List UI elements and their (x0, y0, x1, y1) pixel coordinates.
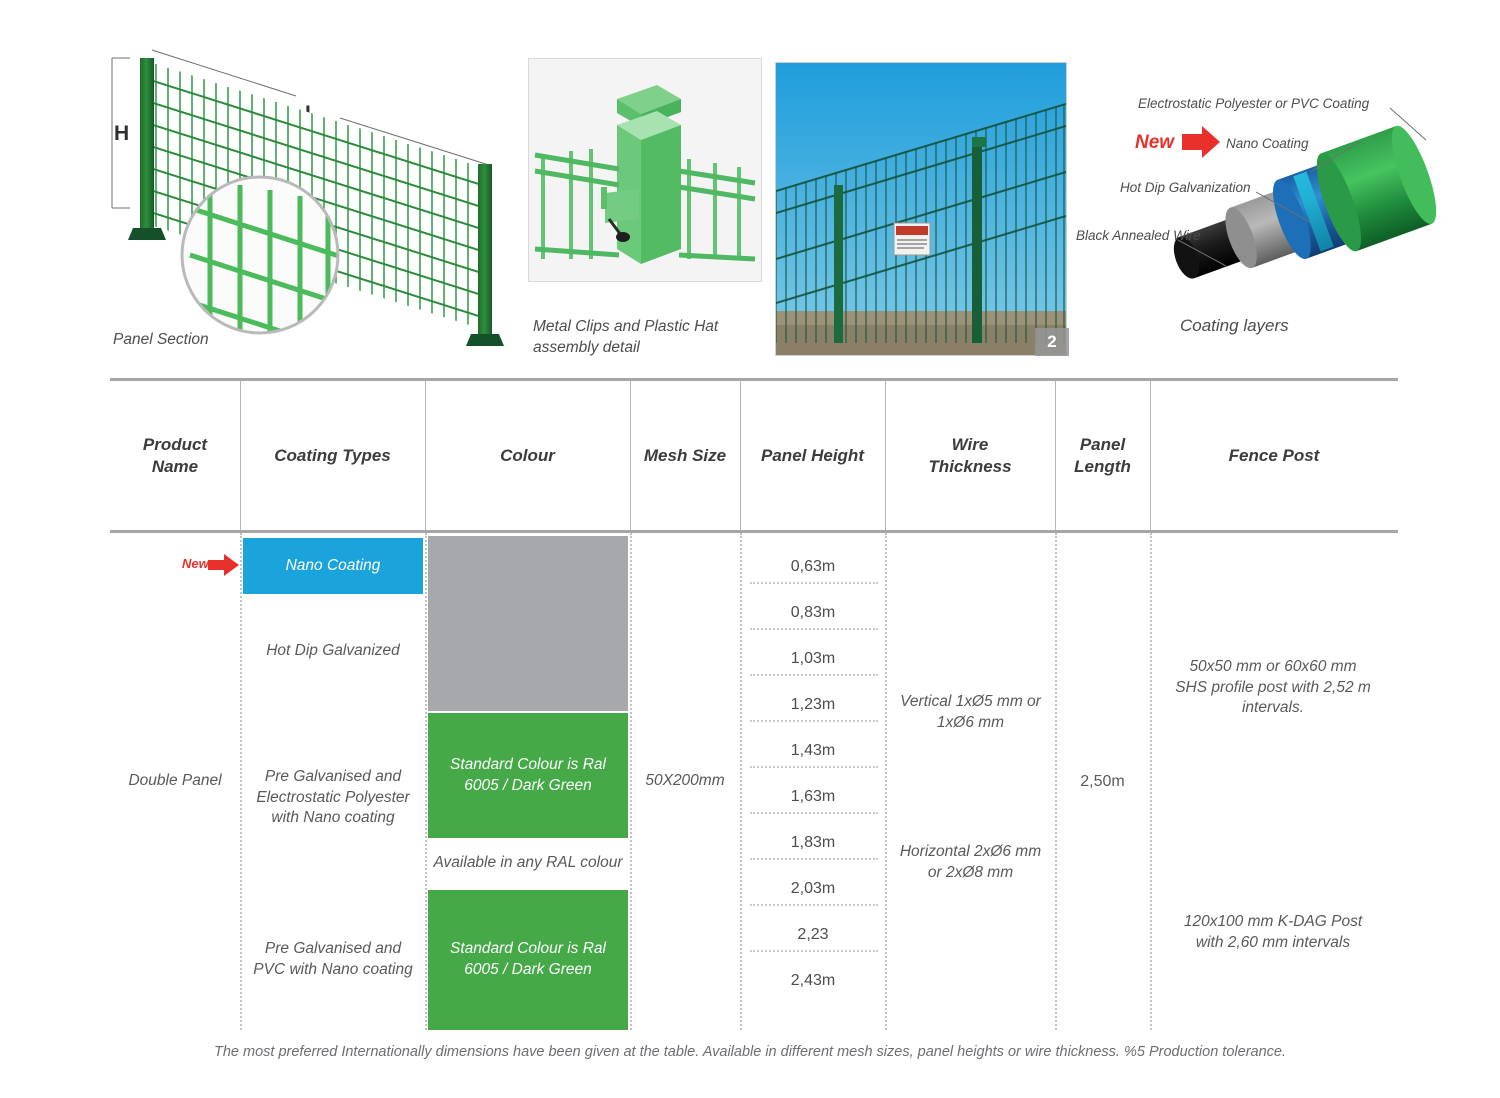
clips-caption-line1: Metal Clips and Plastic Hat (533, 318, 718, 335)
column-header-wire-thickness: WireThickness (885, 381, 1055, 530)
cell-wire-thickness-horizontal: Horizontal 2xØ6 mm or 2xØ8 mm (888, 828, 1053, 898)
coating-label-nano: Nano Coating (1226, 136, 1309, 151)
cell-panel-height: 2,23 (743, 922, 883, 948)
height-dimension: H (112, 58, 130, 208)
panel-section-caption: Panel Section (113, 330, 209, 351)
cell-coating-nano: Nano Coating (243, 538, 423, 594)
new-badge-label: New (182, 556, 209, 571)
cell-colour-any-ral: Available in any RAL colour (428, 838, 628, 888)
coating-label-outer: Electrostatic Polyester or PVC Coating (1138, 96, 1370, 111)
cell-panel-height: 1,83m (743, 830, 883, 856)
clips-caption-line2: assembly detail (533, 339, 640, 356)
cell-panel-height: 1,03m (743, 646, 883, 672)
specification-table: ProductName Coating Types Colour Mesh Si… (110, 378, 1398, 1030)
fence-panel-diagram: H L (100, 40, 530, 370)
cell-panel-height: 0,63m (743, 554, 883, 580)
coating-label-core: Black Annealed Wire (1076, 228, 1201, 243)
column-header-fence-post: Fence Post (1150, 381, 1398, 530)
coating-layers-caption: Coating layers (1180, 315, 1289, 338)
signage-plate (894, 223, 930, 255)
body-divider (1150, 533, 1152, 1030)
cell-colour-green-top: Standard Colour is Ral 6005 / Dark Green (428, 713, 628, 838)
column-header-panel-height: Panel Height (740, 381, 885, 530)
cell-coating-pvc: Pre Galvanised and PVC with Nano coating (243, 890, 423, 1030)
cell-panel-height: 1,63m (743, 784, 883, 810)
cell-panel-height: 1,43m (743, 738, 883, 764)
column-header-panel-length: PanelLength (1055, 381, 1150, 530)
column-header-colour: Colour (425, 381, 630, 530)
cell-coating-hot-dip: Hot Dip Galvanized (243, 594, 423, 709)
cell-fence-post-kdag: 120x100 mm K-DAG Post with 2,60 mm inter… (1153, 868, 1393, 998)
metal-clip-icon (601, 187, 639, 223)
photo-number-badge: 2 (1035, 328, 1069, 356)
cell-mesh-size: 50X200mm (630, 533, 740, 1030)
coating-layers-figure: Electrostatic Polyester or PVC Coating N… (1060, 70, 1500, 310)
coating-new-badge: New (1135, 132, 1175, 153)
cell-product-name: Double Panel (110, 533, 240, 1030)
column-header-coating-types: Coating Types (240, 381, 425, 530)
cell-wire-thickness-vertical: Vertical 1xØ5 mm or 1xØ6 mm (888, 678, 1053, 748)
new-arrow-icon (1182, 126, 1220, 158)
cell-colour-grey (428, 536, 628, 711)
table-footnote: The most preferred Internationally dimen… (0, 1044, 1500, 1060)
body-divider (240, 533, 242, 1030)
cell-panel-height: 1,23m (743, 692, 883, 718)
cell-colour-green-bottom: Standard Colour is Ral 6005 / Dark Green (428, 890, 628, 1030)
column-header-product-name: ProductName (110, 381, 240, 530)
body-divider (885, 533, 887, 1030)
dim-h-label: H (114, 122, 129, 145)
cell-panel-height: 0,83m (743, 600, 883, 626)
new-arrow-icon (208, 553, 242, 577)
clips-assembly-figure (528, 58, 762, 282)
cell-panel-length: 2,50m (1055, 533, 1150, 1030)
body-divider (425, 533, 427, 1030)
cell-fence-post-shs: 50x50 mm or 60x60 mm SHS profile post wi… (1153, 623, 1393, 753)
body-divider (740, 533, 742, 1030)
cell-panel-height: 2,03m (743, 876, 883, 902)
table-header-rule (110, 530, 1398, 533)
coating-label-galv: Hot Dip Galvanization (1120, 180, 1251, 195)
cell-panel-height: 2,43m (743, 968, 883, 994)
cell-coating-polyester: Pre Galvanised and Electrostatic Polyest… (243, 713, 423, 883)
installed-fence-photo (775, 62, 1067, 356)
clips-caption: Metal Clips and Plastic Hat assembly det… (533, 317, 723, 359)
column-header-mesh-size: Mesh Size (630, 381, 740, 530)
